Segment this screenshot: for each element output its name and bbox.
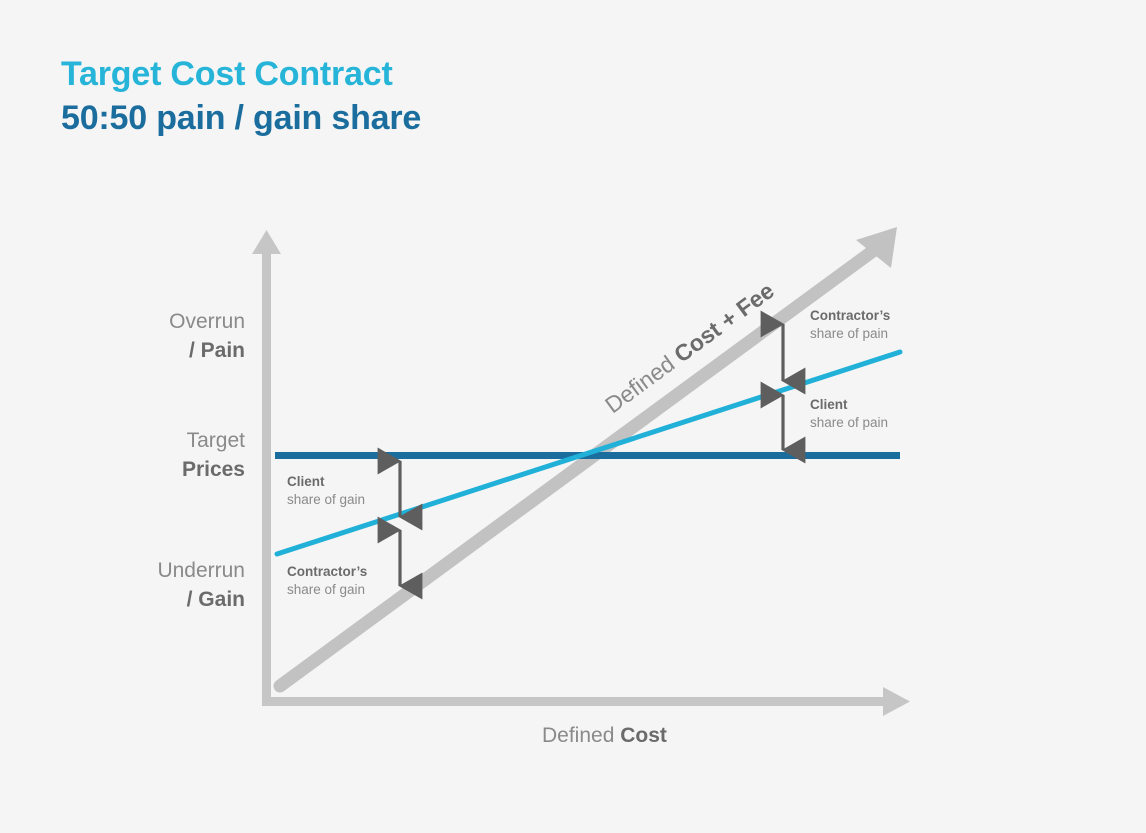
annotation-client-share-of-gain-title: Client — [287, 473, 365, 491]
annotation-contractor-share-of-pain-sub: share of pain — [810, 325, 890, 343]
x-axis-arrowhead — [883, 687, 910, 716]
annotation-contractor-share-of-gain: Contractor’s share of gain — [287, 563, 367, 599]
x-axis-label: Defined Cost — [542, 724, 667, 748]
annotation-client-share-of-pain-sub: share of pain — [810, 414, 888, 432]
defined-cost-plus-fee-line — [280, 248, 877, 686]
annotation-client-share-of-gain-sub: share of gain — [287, 491, 365, 509]
annotation-contractor-share-of-pain-title: Contractor’s — [810, 307, 890, 325]
annotation-contractor-share-of-gain-title: Contractor’s — [287, 563, 367, 581]
annotation-contractor-share-of-pain: Contractor’s share of pain — [810, 307, 890, 343]
y-axis-label-overrun-bold: / Pain — [189, 339, 245, 362]
y-axis-label-target-bold: Prices — [182, 458, 245, 481]
y-axis-label-underrun-bold: / Gain — [187, 588, 245, 611]
y-axis-label-target-lite: Target — [187, 429, 245, 452]
y-axis-arrowhead — [252, 230, 281, 254]
annotation-client-share-of-pain-title: Client — [810, 396, 888, 414]
annotation-client-share-of-gain: Client share of gain — [287, 473, 365, 509]
y-axis-label-underrun-lite: Underrun — [157, 559, 245, 582]
annotation-contractor-share-of-gain-sub: share of gain — [287, 581, 367, 599]
y-axis-label-overrun-lite: Overrun — [169, 310, 245, 333]
y-axis-label-underrun: Underrun / Gain — [0, 556, 245, 614]
annotation-client-share-of-pain: Client share of pain — [810, 396, 888, 432]
x-axis-label-bold: Cost — [620, 724, 667, 747]
y-axis-label-overrun: Overrun / Pain — [0, 307, 245, 365]
x-axis-label-lite: Defined — [542, 724, 620, 747]
y-axis-label-target: Target Prices — [0, 426, 245, 484]
chart-graphics — [0, 0, 1146, 833]
y-axis-line — [262, 248, 271, 702]
diagram-canvas: Target Cost Contract 50:50 pain / gain s… — [0, 0, 1146, 833]
x-axis-line — [262, 697, 885, 706]
